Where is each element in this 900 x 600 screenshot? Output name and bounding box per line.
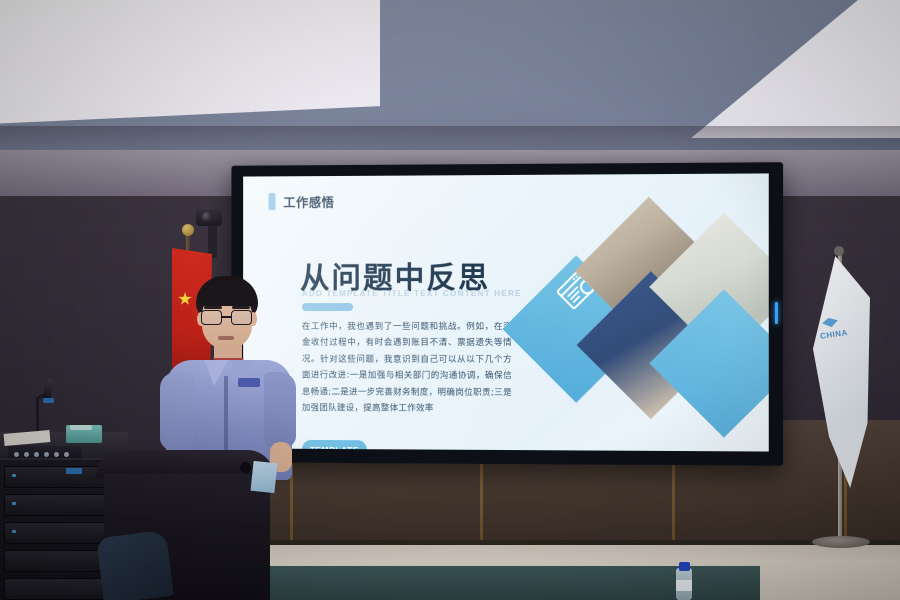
mixer-knob[interactable] bbox=[34, 452, 39, 457]
ceiling-light-panel-left bbox=[0, 0, 380, 124]
lens-right bbox=[231, 310, 252, 325]
rack-led-icon bbox=[12, 502, 16, 505]
eyebrow-right bbox=[232, 306, 250, 309]
camera-mount bbox=[208, 224, 217, 258]
mixer-knob[interactable] bbox=[64, 452, 69, 457]
podium-notes bbox=[250, 461, 277, 493]
rack-unit[interactable] bbox=[4, 522, 114, 544]
conference-room-scene: 工作感悟 从问题中反思 ADD TEMPLATE TITLE TEXT CONT… bbox=[0, 0, 900, 600]
hair-fringe bbox=[198, 286, 256, 306]
kicker-accent-bar bbox=[269, 193, 276, 210]
projection-screen[interactable]: 工作感悟 从问题中反思 ADD TEMPLATE TITLE TEXT CONT… bbox=[231, 162, 783, 466]
podium-knob bbox=[240, 462, 251, 473]
headline-underline-bar bbox=[302, 303, 353, 311]
power-led-icon bbox=[775, 302, 778, 324]
glasses-bridge bbox=[222, 316, 231, 318]
eyebrow-left bbox=[204, 306, 222, 309]
slide-kicker-label: 工作感悟 bbox=[283, 192, 334, 211]
glasses-icon bbox=[200, 310, 254, 325]
rack-unit[interactable] bbox=[4, 494, 114, 516]
bottle-cap-icon bbox=[679, 562, 690, 571]
rack-display-panel bbox=[66, 468, 82, 474]
lens-left bbox=[201, 310, 222, 325]
camera-lens-icon bbox=[202, 212, 212, 222]
mixer-knob[interactable] bbox=[24, 452, 29, 457]
name-badge bbox=[238, 378, 260, 387]
flag-pole-top-icon bbox=[834, 246, 844, 256]
rack-led-icon bbox=[12, 474, 16, 477]
mixer-knob[interactable] bbox=[14, 452, 19, 457]
sleeve-left bbox=[160, 372, 194, 450]
flag-finial-icon bbox=[182, 224, 194, 236]
office-chair bbox=[96, 530, 174, 600]
mouth bbox=[218, 336, 234, 340]
mixer-knob[interactable] bbox=[44, 452, 49, 457]
flag-base bbox=[812, 536, 870, 548]
diamond-collage bbox=[528, 236, 761, 438]
template-button[interactable]: TEMPLATE bbox=[302, 440, 367, 452]
slide-body-text: 在工作中，我也遇到了一些问题和挑战。例如，在资金收付过程中，有时会遇到账目不清、… bbox=[302, 319, 512, 418]
presenter bbox=[160, 276, 296, 476]
rack-unit[interactable] bbox=[4, 578, 114, 600]
bottle-label bbox=[676, 580, 692, 591]
microphone-clip bbox=[43, 398, 54, 403]
sleeve-right bbox=[264, 372, 296, 448]
slide-subheadline: ADD TEMPLATE TITLE TEXT CONTENT HERE bbox=[302, 289, 522, 298]
rack-led-icon bbox=[12, 530, 16, 533]
mixer-knob[interactable] bbox=[54, 452, 59, 457]
presentation-slide: 工作感悟 从问题中反思 ADD TEMPLATE TITLE TEXT CONT… bbox=[243, 173, 769, 451]
teal-box-top bbox=[70, 425, 92, 430]
slide-kicker: 工作感悟 bbox=[269, 192, 335, 211]
